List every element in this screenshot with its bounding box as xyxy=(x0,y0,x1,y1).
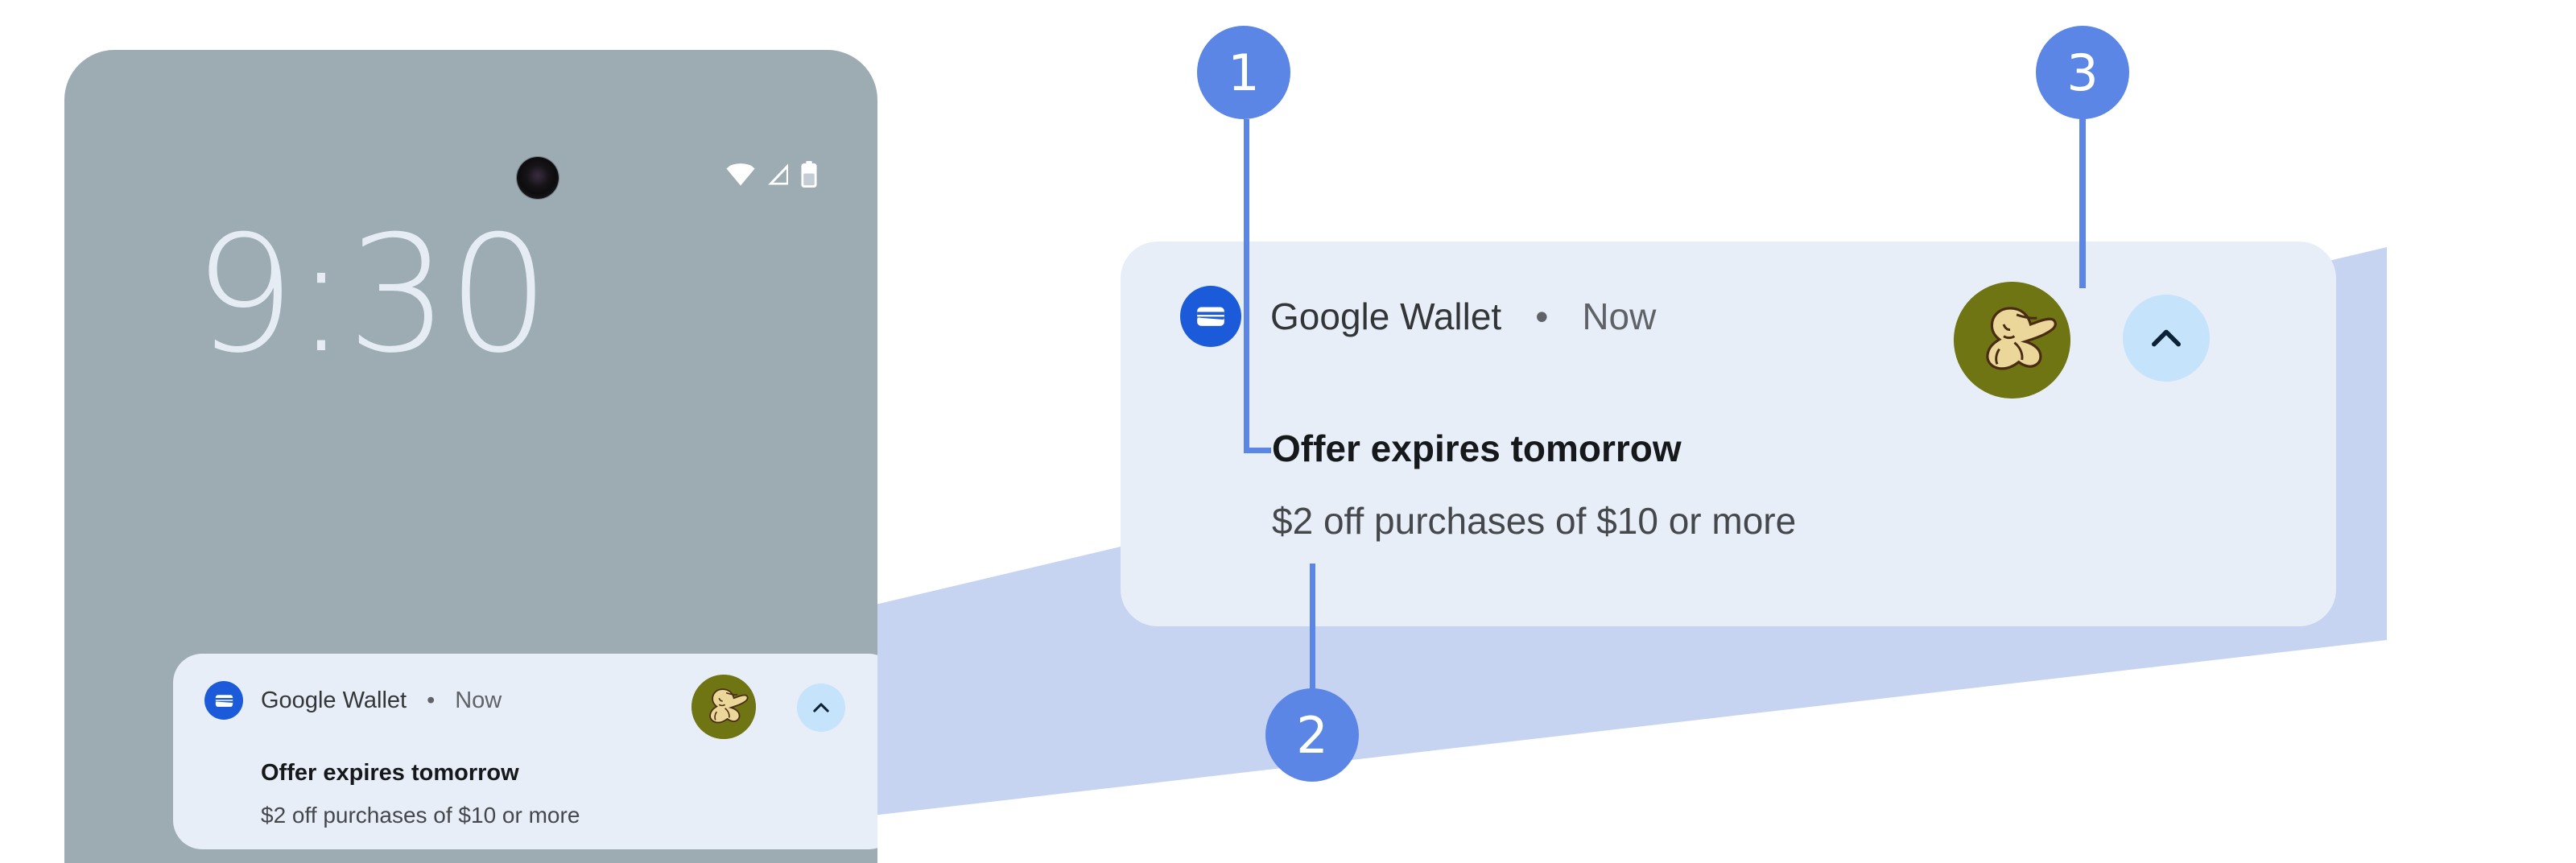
notification-timestamp: Now xyxy=(455,688,502,714)
notification-body: $2 off purchases of $10 or more xyxy=(261,803,580,828)
callout-1-connector xyxy=(1244,119,1271,456)
cellular-signal-icon xyxy=(764,162,793,188)
wifi-icon xyxy=(724,162,757,188)
notification-app-name: Google Wallet xyxy=(261,688,407,714)
notification-card-small[interactable]: Google Wallet • Now Offer expires tomorr… xyxy=(173,654,877,849)
notification-title: Offer expires tomorrow xyxy=(1272,427,1682,470)
phone-mockup: 9:30 Google Wallet • Now Offer expires t… xyxy=(64,50,877,863)
notification-title: Offer expires tomorrow xyxy=(261,760,519,787)
merchant-logo-icon xyxy=(691,675,756,739)
callout-badge-3-label: 3 xyxy=(2066,43,2098,102)
merchant-logo-icon xyxy=(1954,282,2070,398)
notification-app-name: Google Wallet xyxy=(1270,295,1501,338)
status-bar xyxy=(724,153,818,196)
notification-separator: • xyxy=(1535,295,1548,338)
chevron-up-icon xyxy=(2145,317,2187,359)
callout-2-connector xyxy=(1310,564,1315,700)
callout-badge-3: 3 xyxy=(2036,26,2129,119)
notification-timestamp: Now xyxy=(1582,295,1656,338)
notification-card-enlarged[interactable]: Google Wallet • Now Offer expires tomorr… xyxy=(1121,242,2336,626)
battery-icon xyxy=(800,161,818,188)
notification-separator: • xyxy=(427,688,435,714)
google-wallet-icon xyxy=(204,681,243,720)
chevron-up-icon xyxy=(810,696,832,719)
callout-3-connector xyxy=(2079,113,2086,288)
callout-badge-2: 2 xyxy=(1265,688,1359,782)
lockscreen-clock: 9:30 xyxy=(193,215,548,376)
callout-badge-2-label: 2 xyxy=(1296,706,1327,765)
notification-header: Google Wallet • Now xyxy=(204,681,502,720)
google-wallet-icon xyxy=(1180,286,1241,347)
callout-badge-1: 1 xyxy=(1197,26,1290,119)
front-camera-icon xyxy=(517,157,559,199)
expand-notification-button[interactable] xyxy=(2123,295,2210,382)
notification-body: $2 off purchases of $10 or more xyxy=(1272,499,1796,543)
expand-notification-button[interactable] xyxy=(797,683,845,732)
screenshot-canvas: 9:30 Google Wallet • Now Offer expires t… xyxy=(0,0,2576,863)
callout-badge-1-label: 1 xyxy=(1228,43,1259,102)
